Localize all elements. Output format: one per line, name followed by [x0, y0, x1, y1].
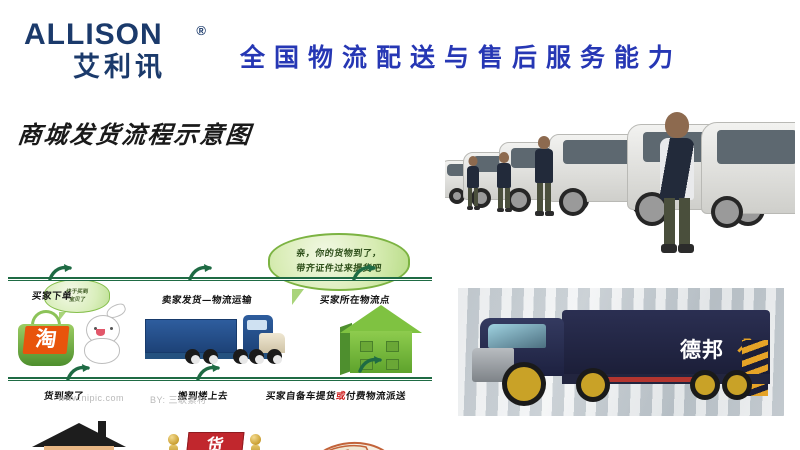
technician-head [499, 152, 509, 163]
truck-trailer [145, 319, 237, 353]
deppon-logo-text: 德邦 [680, 334, 724, 364]
step-label-order: 买家下单 [31, 288, 72, 302]
truck-wheel [233, 349, 248, 364]
flow-arrow-icon [188, 263, 214, 281]
buyer-home-house-icon [36, 423, 122, 450]
fleet-car-window [563, 140, 637, 164]
fleet-car-window [717, 130, 795, 164]
truck-windshield [488, 324, 546, 348]
service-fleet-photo [445, 108, 795, 268]
technician-vest [660, 138, 694, 200]
cargo-box: 货 [186, 432, 245, 450]
technician-leg [664, 198, 675, 246]
mascot-eye-right [110, 327, 113, 330]
green-house-window [386, 359, 399, 370]
technician-shoe [505, 208, 512, 212]
technician-vest [535, 149, 553, 183]
truck-wheel [267, 349, 282, 364]
mover-figure-right [247, 434, 263, 450]
shipping-flow-diagram: 商城发货流程示意图 终于买到 宝贝了 亲，你的货物到了， 带齐证件过来提货吧 淘 [0, 105, 440, 425]
brand-name-en-text: ALLISON [24, 18, 163, 51]
buyer-mascot-icon [76, 305, 130, 369]
green-house-window [360, 341, 373, 352]
green-house-window [386, 341, 399, 352]
step-label-pickup-or-delivery: 买家自备车提货或付费物流派送 [265, 388, 407, 402]
registered-trademark-icon: ® [196, 14, 207, 48]
buyer-car-sketch-icon [296, 435, 400, 450]
brand-name-en: ALLISON ® [24, 18, 209, 52]
watermark-credit: BY: 三联素材 [150, 393, 207, 406]
technician-leg [545, 183, 551, 211]
pickup-text-before: 买家自备车提货 [265, 391, 336, 402]
step-label-shipping: 卖家发货—物流运输 [161, 292, 252, 306]
brand-logo: ALLISON ® 艾利讯 [24, 18, 209, 90]
technician-head [469, 156, 478, 166]
technician-figure [465, 156, 481, 212]
brand-name-cn: 艾利讯 [24, 52, 209, 84]
truck-wheel [690, 370, 720, 400]
technician-leg [468, 188, 472, 206]
technician-figure [495, 152, 513, 214]
technician-leg [537, 183, 543, 211]
flow-arrow-icon [358, 355, 384, 373]
fleet-car-tire [559, 188, 587, 216]
mascot-mouth [96, 329, 105, 336]
flow-arrow-icon [352, 263, 378, 281]
technician-leg [498, 188, 503, 208]
truck-wheel [185, 349, 200, 364]
truck-wheel [576, 368, 610, 402]
technician-head [538, 136, 550, 149]
logistics-speech-bubble: 亲，你的货物到了， 带齐证件过来提货吧 [268, 233, 410, 291]
flow-arrow-icon [66, 363, 92, 381]
fleet-car-tire [711, 196, 743, 228]
technician-figure-front [657, 112, 697, 258]
technician-shoe [661, 244, 677, 253]
truck-wheel [203, 349, 218, 364]
flow-arrow-icon [48, 263, 74, 281]
house-roof [32, 423, 126, 447]
bubble-big-line1: 亲，你的货物到了， [295, 247, 382, 262]
pickup-text-after: 付费物流派送 [345, 391, 406, 402]
technician-leg [474, 188, 478, 206]
truck-trailer-body: 德邦 ↗ [562, 310, 770, 376]
technician-leg [505, 188, 510, 208]
diagram-title: 商城发货流程示意图 [16, 115, 254, 150]
technician-vest [467, 166, 479, 188]
mover-figure-left [165, 434, 181, 450]
truck-wheel [502, 362, 546, 406]
technician-shoe [474, 206, 480, 210]
bag-taobao-char: 淘 [23, 326, 70, 354]
technician-vest [497, 163, 511, 188]
step-label-station: 买家所在物流点 [319, 292, 390, 306]
technician-figure [533, 136, 555, 220]
flow-arrow-icon [196, 363, 222, 381]
shopping-bag-icon: 淘 [18, 310, 74, 366]
watermark-url: www.nipic.com [58, 393, 124, 403]
technician-shoe [678, 244, 694, 253]
technician-leg [679, 198, 690, 246]
technician-shoe [497, 208, 504, 212]
truck-window [247, 320, 267, 330]
technician-shoe [535, 211, 544, 216]
slide-root: ALLISON ® 艾利讯 全国物流配送与售后服务能力 商城发货流程示意图 终于… [0, 0, 800, 450]
deppon-logistics-truck-photo: 德邦 ↗ [458, 288, 784, 416]
truck-wheel [249, 349, 264, 364]
truck-wheel [722, 370, 752, 400]
mascot-body [84, 338, 120, 364]
green-house-roof [340, 305, 422, 333]
house-body [44, 446, 114, 450]
technician-shoe [467, 206, 473, 210]
technician-head [665, 112, 689, 138]
technician-shoe [545, 211, 554, 216]
page-title: 全国物流配送与售后服务能力 [240, 38, 760, 82]
movers-carrying-cargo-icon: 货 [165, 430, 265, 450]
